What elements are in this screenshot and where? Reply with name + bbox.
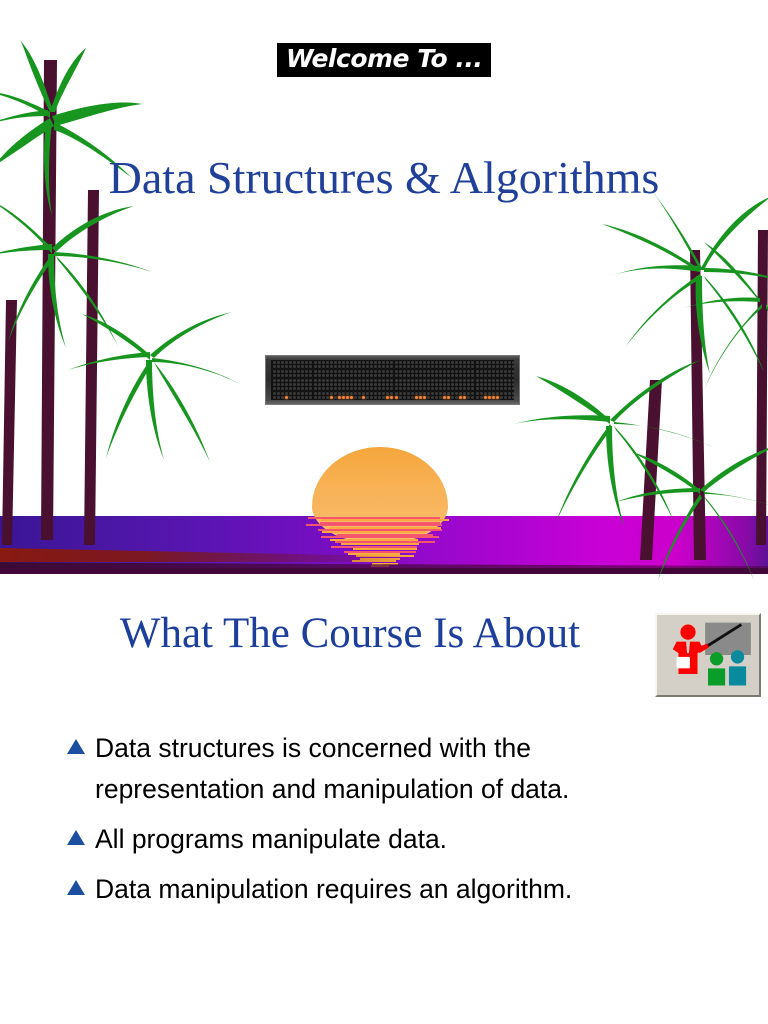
bullet-item: All programs manipulate data. (62, 819, 702, 860)
classroom-presentation-icon (655, 613, 761, 697)
section-heading: What The Course Is About (0, 608, 700, 660)
palm-group-left (0, 40, 240, 545)
bullet-text: Data structures is concerned with the re… (95, 733, 569, 804)
bullet-text: All programs manipulate data. (95, 824, 447, 854)
welcome-banner: Welcome To ... (277, 43, 491, 77)
page-title: Data Structures & Algorithms (0, 150, 768, 206)
content-slide: What The Course Is About Data structures… (0, 580, 768, 1024)
triangle-bullet-icon (67, 830, 85, 845)
title-slide: Welcome To ... Data Structures & Algorit… (0, 0, 768, 580)
bullet-item: Data structures is concerned with the re… (62, 728, 702, 810)
triangle-bullet-icon (67, 739, 85, 754)
triangle-bullet-icon (67, 880, 85, 895)
bullet-text: Data manipulation requires an algorithm. (95, 874, 572, 904)
palm-trees-artwork (0, 0, 768, 580)
palm-group-right (514, 186, 768, 580)
bullet-item: Data manipulation requires an algorithm. (62, 869, 702, 910)
bullet-list: Data structures is concerned with the re… (62, 728, 702, 919)
